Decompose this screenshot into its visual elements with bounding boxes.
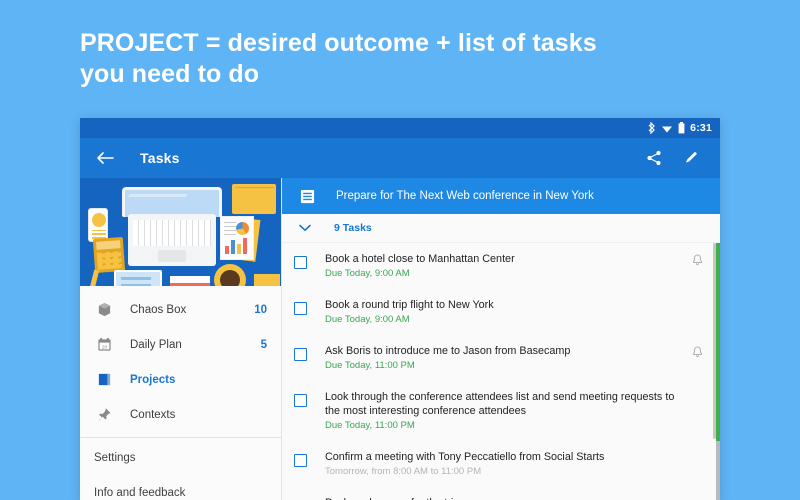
status-clock: 6:31 [690,122,712,134]
tasks-count-row[interactable]: 9 Tasks [282,214,720,243]
sidebar-item-label: Daily Plan [130,339,261,351]
status-bar: 6:31 [80,118,720,138]
back-arrow-icon[interactable] [94,147,116,169]
coffee-cup-shape [214,264,246,286]
phone-shape [88,208,108,242]
sidebar-item-count: 5 [261,339,267,351]
laptop-keyboard-shape [133,220,211,246]
headline-line-1: PROJECT = desired outcome + list of task… [80,28,720,59]
battery-icon [678,122,685,134]
task-content: Ask Boris to introduce me to Jason from … [325,344,720,373]
task-title: Book a hotel close to Manhattan Center [325,252,686,266]
calendar-icon: 20 [94,335,114,355]
drawer-divider [80,437,281,438]
chevron-down-icon[interactable] [298,221,312,235]
task-checkbox[interactable] [294,302,307,315]
navigation-drawer: Chaos Box 10 20 Daily Plan 5 [80,178,282,500]
sidebar-item-info-and-feedback[interactable]: Info and feedback [80,475,281,500]
svg-text:20: 20 [101,344,107,349]
task-title: Look through the conference attendees li… [325,390,686,418]
sidebar-item-projects[interactable]: Projects [80,362,281,397]
task-title: Ask Boris to introduce me to Jason from … [325,344,686,358]
sidebar-item-label: Contexts [130,409,267,421]
sidebar-item-count: 10 [254,304,267,316]
content-panel: Prepare for The Next Web conference in N… [282,178,720,500]
headline-line-2: you need to do [80,59,720,90]
priority-bar [716,243,720,289]
task-content: Confirm a meeting with Tony Peccatiello … [325,450,720,479]
envelope-icon [232,184,276,214]
sticky-note-shape [254,274,280,286]
task-title: Book a round trip flight to New York [325,298,686,312]
app-bar-actions [644,148,702,168]
task-subtitle: Due Today, 11:00 PM [325,359,686,373]
sidebar-item-label: Projects [130,374,267,386]
bluetooth-icon [648,122,656,134]
table-row[interactable]: Look through the conference attendees li… [282,381,720,441]
pin-icon [94,405,114,425]
device-screenshot: 6:31 Tasks [80,118,720,500]
notepad-shape [170,276,210,286]
table-row[interactable]: Ask Boris to introduce me to Jason from … [282,335,720,381]
drawer-header-illustration [80,178,281,286]
bell-icon [692,345,704,357]
priority-bar [716,335,720,381]
task-checkbox[interactable] [294,256,307,269]
app-bar: Tasks [80,138,720,178]
task-subtitle: Due Today, 9:00 AM [325,313,686,327]
sidebar-item-contexts[interactable]: Contexts [80,397,281,432]
task-content: Pack my luggage for the trip Start Tomor… [325,496,720,500]
task-content: Look through the conference attendees li… [325,390,720,433]
laptop-screen-shape [122,187,222,217]
priority-bar [716,289,720,335]
tasks-count-label: 9 Tasks [334,222,372,234]
app-bar-title: Tasks [140,150,180,166]
sidebar-item-settings[interactable]: Settings [80,440,281,475]
bell-icon [692,253,704,265]
task-subtitle: Tomorrow, from 8:00 AM to 11:00 PM [325,465,686,479]
book-icon [94,370,114,390]
project-title: Prepare for The Next Web conference in N… [336,190,594,202]
page-title: PROJECT = desired outcome + list of task… [80,28,720,90]
task-title: Pack my luggage for the trip [325,496,686,500]
priority-bar [716,381,720,441]
box-icon [94,300,114,320]
list-icon [298,187,316,205]
pencil-shape [90,270,99,286]
priority-bar [716,487,720,500]
sidebar-item-chaos-box[interactable]: Chaos Box 10 [80,292,281,327]
task-checkbox[interactable] [294,348,307,361]
priority-bar [716,441,720,487]
task-checkbox[interactable] [294,394,307,407]
sidebar-item-daily-plan[interactable]: 20 Daily Plan 5 [80,327,281,362]
task-subtitle: Due Today, 9:00 AM [325,267,686,281]
calculator-shape [93,237,125,273]
table-row[interactable]: Book a hotel close to Manhattan Center D… [282,243,720,289]
drawer-nav-list: Chaos Box 10 20 Daily Plan 5 [80,286,281,500]
task-content: Book a hotel close to Manhattan Center D… [325,252,720,281]
table-row[interactable]: Pack my luggage for the trip Start Tomor… [282,487,720,500]
task-subtitle: Due Today, 11:00 PM [325,419,686,433]
project-header[interactable]: Prepare for The Next Web conference in N… [282,178,720,214]
table-row[interactable]: Book a round trip flight to New York Due… [282,289,720,335]
table-row[interactable]: Confirm a meeting with Tony Peccatiello … [282,441,720,487]
chart-document-shape [220,216,254,260]
wifi-icon [661,122,673,134]
sidebar-item-label: Info and feedback [94,487,267,499]
sidebar-item-label: Settings [94,452,267,464]
laptop-trackpad-shape [158,250,186,262]
sidebar-item-label: Chaos Box [130,304,254,316]
page-root: PROJECT = desired outcome + list of task… [0,0,800,500]
task-checkbox[interactable] [294,454,307,467]
device-body: Chaos Box 10 20 Daily Plan 5 [80,178,720,500]
share-icon[interactable] [644,148,664,168]
task-title: Confirm a meeting with Tony Peccatiello … [325,450,686,464]
pencil-icon[interactable] [682,148,702,168]
task-list[interactable]: Book a hotel close to Manhattan Center D… [282,243,720,500]
scrollbar-thumb[interactable] [713,243,716,439]
tablet-shape [114,270,162,286]
task-content: Book a round trip flight to New York Due… [325,298,720,327]
